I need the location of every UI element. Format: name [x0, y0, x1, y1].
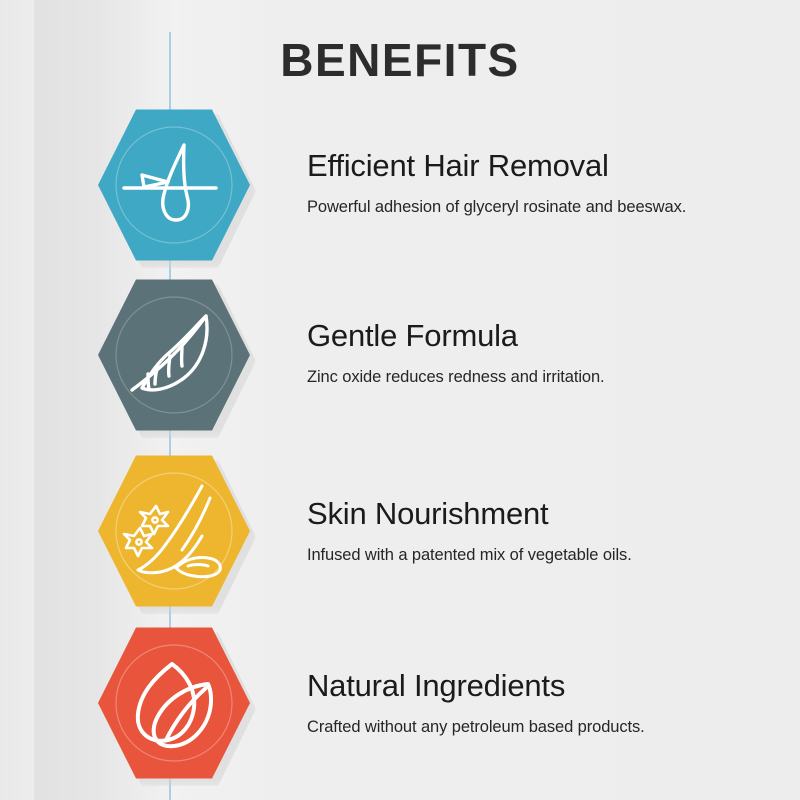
benefit-description: Powerful adhesion of glyceryl rosinate a…	[307, 195, 777, 219]
benefit-text-block: Gentle Formula Zinc oxide reduces rednes…	[307, 316, 777, 389]
page-title: BENEFITS	[0, 34, 800, 86]
benefit-item-skin-nourishment[interactable]: Skin Nourishment Infused with a patented…	[0, 448, 800, 618]
benefit-item-gentle-formula[interactable]: Gentle Formula Zinc oxide reduces rednes…	[0, 272, 800, 442]
benefit-description: Zinc oxide reduces redness and irritatio…	[307, 365, 777, 389]
benefit-item-efficient-hair-removal[interactable]: Efficient Hair Removal Powerful adhesion…	[0, 102, 800, 272]
benefit-text-block: Efficient Hair Removal Powerful adhesion…	[307, 146, 777, 219]
benefit-icon-badge[interactable]	[98, 106, 256, 268]
benefit-description: Crafted without any petroleum based prod…	[307, 715, 777, 739]
benefit-item-natural-ingredients[interactable]: Natural Ingredients Crafted without any …	[0, 620, 800, 790]
benefit-text-block: Skin Nourishment Infused with a patented…	[307, 494, 777, 567]
benefit-description: Infused with a patented mix of vegetable…	[307, 543, 777, 567]
benefit-icon-badge[interactable]	[98, 276, 256, 438]
benefit-icon-badge[interactable]	[98, 452, 256, 614]
benefit-icon-badge[interactable]	[98, 624, 256, 786]
benefit-title: Efficient Hair Removal	[307, 146, 777, 186]
benefit-title: Gentle Formula	[307, 316, 777, 356]
benefit-title: Natural Ingredients	[307, 666, 777, 706]
benefit-title: Skin Nourishment	[307, 494, 777, 534]
infographic-canvas: BENEFITS Ef	[0, 0, 800, 800]
benefit-text-block: Natural Ingredients Crafted without any …	[307, 666, 777, 739]
